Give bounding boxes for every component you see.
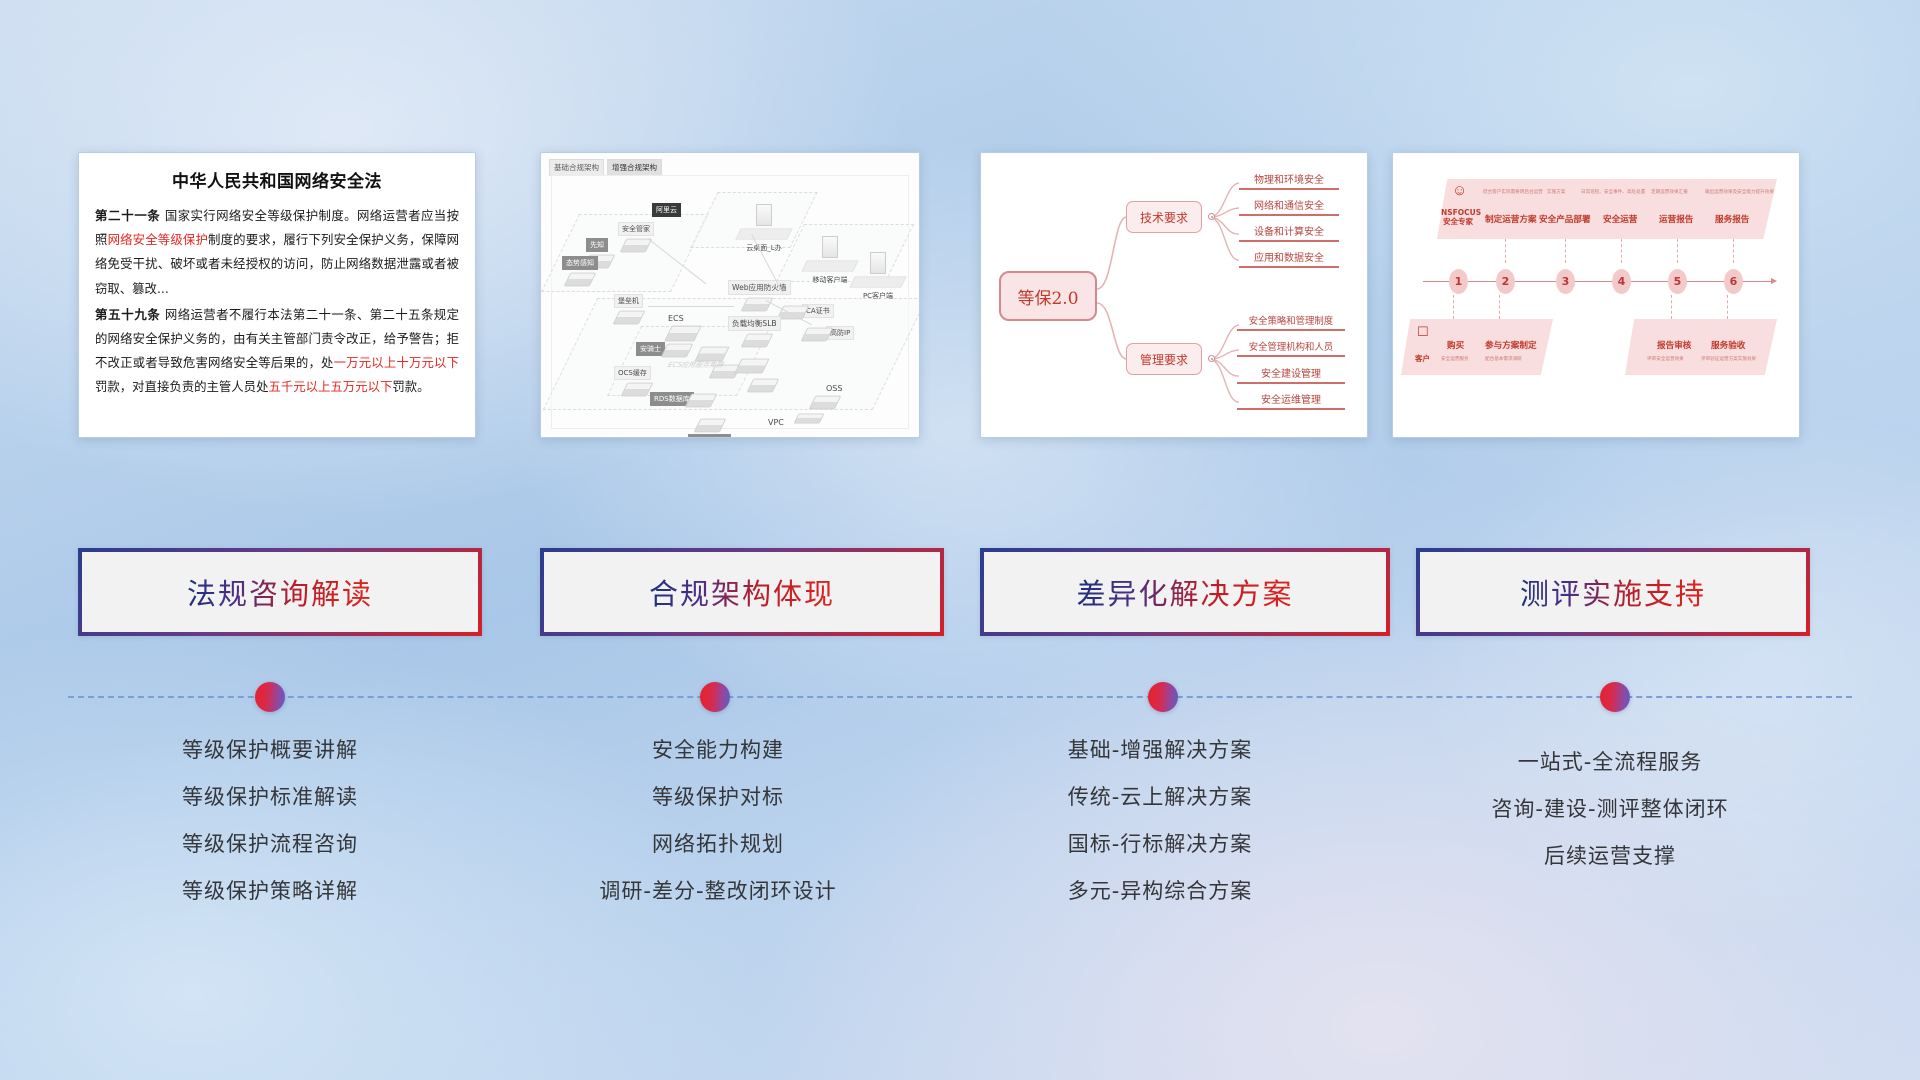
mindmap-leaf: 安全建设管理 bbox=[1237, 365, 1345, 384]
customer-step-sub: 评审安全运营效果 bbox=[1647, 356, 1684, 362]
node-oss: OSS bbox=[808, 384, 842, 410]
banner-evaluation-support[interactable]: 测评实施支持 bbox=[1416, 548, 1810, 636]
list-item: 传统-云上解决方案 bbox=[950, 787, 1370, 808]
banner-label: 合规架构体现 bbox=[649, 571, 835, 613]
connector-tick bbox=[1727, 295, 1728, 319]
list-item: 等级保护流程咨询 bbox=[60, 834, 480, 855]
connector-tick bbox=[1671, 295, 1672, 319]
law-paragraph-21: 第二十一条 国家实行网络安全等级保护制度。网络运营者应当按照网络安全等级保护制度… bbox=[95, 204, 459, 301]
list-item: 调研-差分-整改闭环设计 bbox=[508, 881, 928, 902]
tab-basic-architecture[interactable]: 基础合规架构 bbox=[549, 159, 604, 176]
banner-compliance-architecture[interactable]: 合规架构体现 bbox=[540, 548, 944, 636]
provider-step-sub: 日常巡检、安全事件、高危处置 bbox=[1581, 189, 1645, 195]
law-text-highlight: 一万元以上十万元以下 bbox=[334, 355, 459, 370]
timeline-axis bbox=[1423, 281, 1773, 282]
list-item: 等级保护对标 bbox=[508, 787, 928, 808]
law-article-number: 第二十一条 bbox=[95, 208, 161, 223]
mindmap-leaf: 物理和环境安全 bbox=[1239, 171, 1339, 190]
mindmap-branch-technical: 技术要求 bbox=[1126, 201, 1202, 233]
step-number: 1 bbox=[1449, 269, 1468, 294]
timeline-dot-1[interactable] bbox=[255, 682, 285, 712]
node-database-audit: 数据库审计 bbox=[688, 416, 731, 438]
timeline-dot-4[interactable] bbox=[1600, 682, 1630, 712]
customer-step-sub: 安全运营服务 bbox=[1441, 356, 1469, 362]
customer-step-title: 服务验收 bbox=[1711, 339, 1745, 351]
node-anqishi: 安骑士 bbox=[636, 342, 690, 358]
provider-step-title: 制定运营方案 bbox=[1485, 213, 1537, 225]
node-ecs: ECS bbox=[668, 314, 698, 342]
mindmap-leaf: 设备和计算安全 bbox=[1239, 223, 1339, 242]
step-number: 2 bbox=[1496, 269, 1515, 294]
provider-band bbox=[1437, 179, 1777, 239]
node-situation-awareness: 态势感知 bbox=[562, 256, 598, 287]
feature-list-architecture: 安全能力构建 等级保护对标 网络拓扑规划 调研-差分-整改闭环设计 bbox=[508, 740, 928, 928]
provider-step-title: 服务报告 bbox=[1715, 213, 1749, 225]
customer-step-sub: 配合基本需求调研 bbox=[1485, 356, 1522, 362]
mindmap-leaf: 安全运维管理 bbox=[1237, 391, 1345, 410]
mindmap-leaf: 安全策略和管理制度 bbox=[1237, 313, 1345, 331]
node-rds-database: RDS数据库 bbox=[650, 392, 714, 408]
node-ecs-cluster-label: ECS应用服务集群 bbox=[666, 360, 727, 370]
law-text-highlight: 五千元以上五万元以下 bbox=[268, 379, 392, 394]
step-number: 4 bbox=[1612, 269, 1631, 294]
node-anti-ddos-ip: 高防IP bbox=[826, 326, 854, 342]
list-item: 等级保护概要讲解 bbox=[60, 740, 480, 761]
provider-step-title: 安全产品部署 bbox=[1539, 213, 1591, 225]
list-item: 网络拓扑规划 bbox=[508, 834, 928, 855]
node-cloud-desktop: 云桌面_L办 bbox=[738, 204, 790, 253]
banner-label: 法规咨询解读 bbox=[187, 571, 373, 613]
law-text: 罚款，对直接负责的主管人员处 bbox=[95, 379, 268, 394]
list-item: 咨询-建设-测评整体闭环 bbox=[1400, 799, 1820, 820]
connector-tick bbox=[1733, 239, 1734, 263]
connector-tick bbox=[1453, 295, 1454, 319]
list-item: 基础-增强解决方案 bbox=[950, 740, 1370, 761]
list-item: 等级保护标准解读 bbox=[60, 787, 480, 808]
timeline-dot-2[interactable] bbox=[700, 682, 730, 712]
architecture-diagram: 基础合规架构 增强合规架构 阿里云 安全管家 先知 态势感知 堡垒机 云桌面_L… bbox=[541, 153, 919, 437]
node-pc-client: PC客户端 bbox=[852, 252, 904, 301]
expert-avatar-icon: ☺ bbox=[1452, 183, 1467, 198]
connector-tick bbox=[1499, 295, 1500, 319]
customer-step-title: 参与方案制定 bbox=[1485, 339, 1537, 351]
node-slb: 负载均衡SLB bbox=[728, 316, 781, 348]
list-item: 安全能力构建 bbox=[508, 740, 928, 761]
banner-differentiated-solution[interactable]: 差异化解决方案 bbox=[980, 548, 1390, 636]
list-item: 一站式-全流程服务 bbox=[1400, 752, 1820, 773]
mindmap-branch-management: 管理要求 bbox=[1126, 343, 1202, 375]
feature-list-solution: 基础-增强解决方案 传统-云上解决方案 国标-行标解决方案 多元-异构综合方案 bbox=[950, 740, 1370, 928]
connector-tick bbox=[1505, 239, 1506, 263]
mindmap: 等保2.0 技术要求 管理要求 物理和环境安全 网络和通信安全 设备和计算安全 … bbox=[981, 153, 1367, 437]
banner-label: 测评实施支持 bbox=[1520, 571, 1706, 613]
tab-enhanced-architecture[interactable]: 增强合规架构 bbox=[607, 159, 662, 176]
banner-label: 差异化解决方案 bbox=[1076, 571, 1293, 613]
list-item: 多元-异构综合方案 bbox=[950, 881, 1370, 902]
node-mobile-client: 移动客户端 bbox=[804, 236, 856, 285]
provider-step-sub: 定期运营效果汇报 bbox=[1651, 189, 1688, 195]
provider-step-sub: 结合客户实际需要明后台运营 bbox=[1483, 189, 1543, 195]
law-text-highlight: 网络安全等级保护 bbox=[108, 232, 208, 247]
feature-list-support: 一站式-全流程服务 咨询-建设-测评整体闭环 后续运营支撑 bbox=[1400, 752, 1820, 893]
customer-band-right bbox=[1625, 319, 1777, 375]
provider-step-title: 安全运营 bbox=[1603, 213, 1637, 225]
customer-step-title: 购买 bbox=[1447, 339, 1464, 351]
node-aliyun: 阿里云 bbox=[652, 203, 681, 217]
timeline-dashed-line bbox=[68, 696, 1852, 698]
step-number: 6 bbox=[1724, 269, 1743, 294]
law-text: 罚款。 bbox=[392, 379, 429, 394]
provider-step-title: 运营报告 bbox=[1659, 213, 1693, 225]
process-diagram: ☺ NSFOCUS安全专家 结合客户实际需要明后台运营 制定运营方案 实施方案 … bbox=[1393, 153, 1799, 437]
node-ocs-cache: OCS缓存 bbox=[614, 366, 651, 397]
step-number: 5 bbox=[1668, 269, 1687, 294]
list-item: 后续运营支撑 bbox=[1400, 846, 1820, 867]
preview-cards-row: 中华人民共和国网络安全法 第二十一条 国家实行网络安全等级保护制度。网络运营者应… bbox=[0, 0, 1920, 470]
collapse-dot-icon[interactable] bbox=[1208, 213, 1215, 220]
banner-regulation-consulting[interactable]: 法规咨询解读 bbox=[78, 548, 482, 636]
node-ecs-instance-c bbox=[738, 356, 766, 374]
customer-step-title: 报告审核 bbox=[1657, 339, 1691, 351]
axis-arrow-icon bbox=[1771, 278, 1777, 284]
connector-tick bbox=[1565, 239, 1566, 263]
mindmap-leaf: 安全管理机构和人员 bbox=[1237, 339, 1345, 357]
card-cybersecurity-law[interactable]: 中华人民共和国网络安全法 第二十一条 国家实行网络安全等级保护制度。网络运营者应… bbox=[78, 152, 476, 438]
card-dengbao-mindmap[interactable]: 等保2.0 技术要求 管理要求 物理和环境安全 网络和通信安全 设备和计算安全 … bbox=[980, 152, 1368, 438]
provider-step-sub: 实施方案 bbox=[1547, 189, 1565, 195]
node-bastion-host: 堡垒机 bbox=[614, 294, 643, 325]
step-number: 3 bbox=[1556, 269, 1575, 294]
node-ecs-instance-d bbox=[750, 376, 776, 393]
provider-step-sub: 输出运营效果及安全能力提升效果 bbox=[1705, 189, 1774, 195]
law-article-number: 第五十九条 bbox=[95, 307, 161, 322]
collapse-dot-icon[interactable] bbox=[1208, 355, 1215, 362]
law-document: 中华人民共和国网络安全法 第二十一条 国家实行网络安全等级保护制度。网络运营者应… bbox=[79, 153, 475, 410]
mindmap-leaf: 网络和通信安全 bbox=[1239, 197, 1339, 216]
list-item: 等级保护策略详解 bbox=[60, 881, 480, 902]
timeline-dot-3[interactable] bbox=[1148, 682, 1178, 712]
connector-tick bbox=[1677, 239, 1678, 263]
node-ca-certificate: CA证书 bbox=[802, 304, 834, 320]
architecture-canvas: 阿里云 安全管家 先知 态势感知 堡垒机 云桌面_L办 移动客户端 PC客户端 … bbox=[551, 175, 909, 429]
connector-tick bbox=[1621, 239, 1622, 263]
provider-role-label: NSFOCUS安全专家 bbox=[1441, 209, 1475, 226]
customer-avatar-icon: ☐ bbox=[1417, 325, 1429, 338]
law-paragraph-59: 第五十九条 网络运营者不履行本法第二十一条、第二十五条规定的网络安全保护义务的，… bbox=[95, 303, 459, 400]
card-evaluation-process[interactable]: ☺ NSFOCUS安全专家 结合客户实际需要明后台运营 制定运营方案 实施方案 … bbox=[1392, 152, 1800, 438]
law-title: 中华人民共和国网络安全法 bbox=[95, 167, 459, 192]
mindmap-leaf: 应用和数据安全 bbox=[1239, 249, 1339, 268]
customer-step-sub: 评审验证运营方案实施效果 bbox=[1701, 356, 1756, 362]
customer-role-label: 客户 bbox=[1415, 353, 1430, 364]
list-item: 国标-行标解决方案 bbox=[950, 834, 1370, 855]
architecture-tabs[interactable]: 基础合规架构 增强合规架构 bbox=[549, 159, 662, 176]
node-vpc: VPC bbox=[768, 418, 822, 424]
feature-list-regulation: 等级保护概要讲解 等级保护标准解读 等级保护流程咨询 等级保护策略详解 bbox=[60, 740, 480, 928]
card-compliance-architecture[interactable]: 基础合规架构 增强合规架构 阿里云 安全管家 先知 态势感知 堡垒机 云桌面_L… bbox=[540, 152, 920, 438]
mindmap-root-node: 等保2.0 bbox=[999, 271, 1097, 321]
